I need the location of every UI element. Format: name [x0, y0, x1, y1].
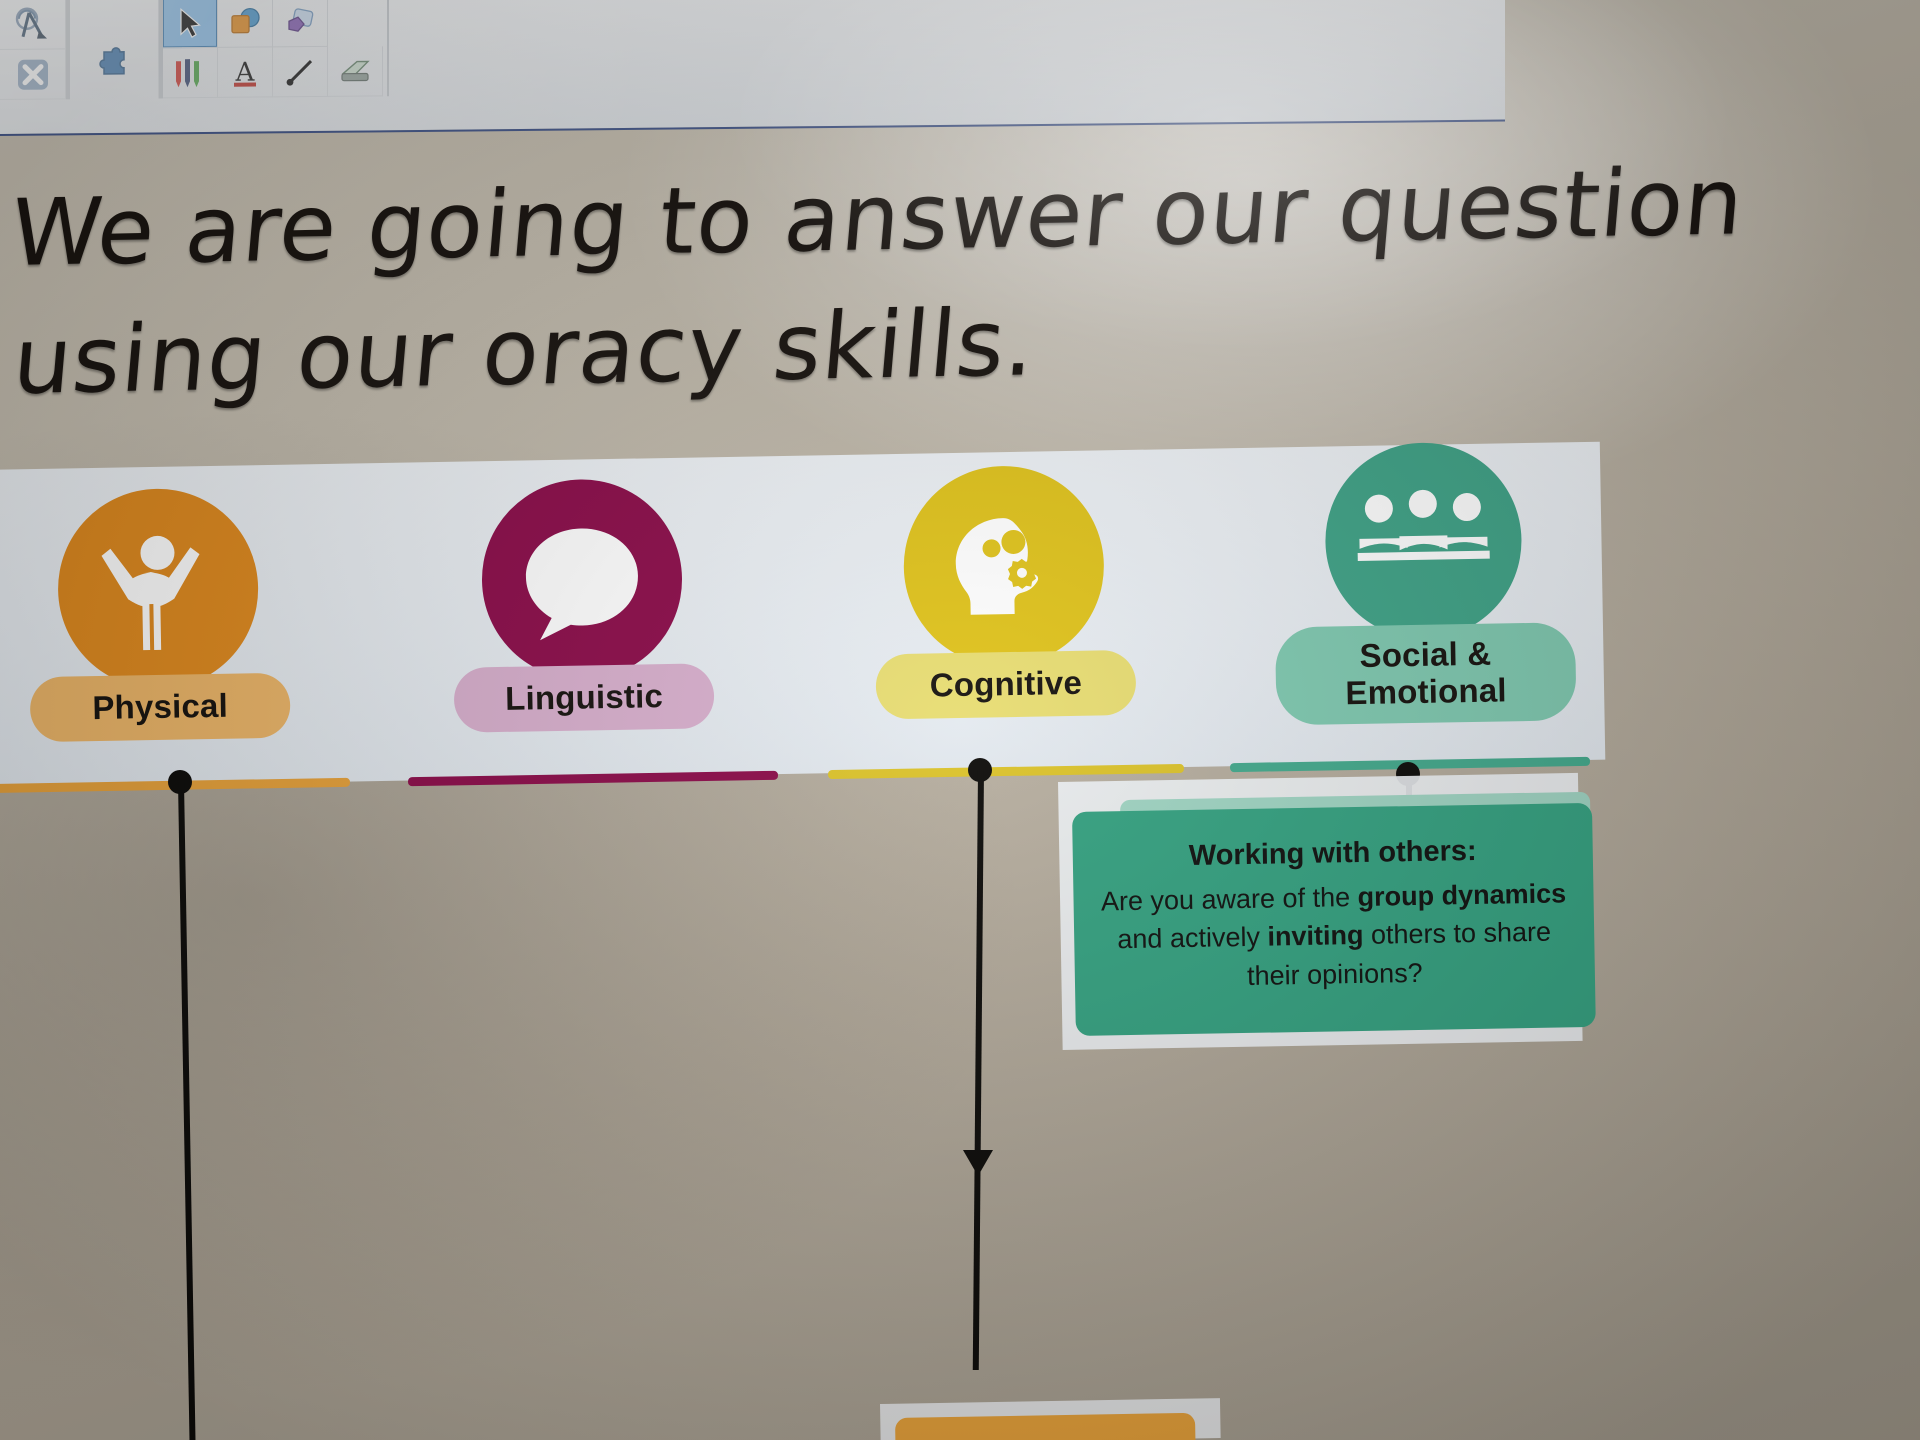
- toolbar-group-plugin: [68, 0, 161, 99]
- line-tool-icon[interactable]: [273, 47, 328, 98]
- strand-label-social-emotional: Social & Emotional: [1275, 622, 1577, 725]
- strand-social-emotional[interactable]: Social & Emotional: [1272, 440, 1577, 725]
- pointer-arrow-cognitive: [963, 1150, 993, 1176]
- toolbar-row: A: [0, 0, 389, 100]
- plugin-spacer: [70, 0, 159, 49]
- person-arms-raised-icon: [56, 487, 259, 690]
- shapes-icon[interactable]: [218, 0, 273, 48]
- toolbar-group-draw: A: [161, 0, 389, 98]
- head-with-gears-icon: [902, 464, 1105, 667]
- callout-body-part2: and actively: [1117, 922, 1268, 955]
- strand-cognitive[interactable]: Cognitive: [872, 464, 1136, 719]
- strand-label-social-line2: Emotional: [1302, 672, 1551, 713]
- eraser-icon[interactable]: [328, 46, 383, 97]
- strand-label-physical: Physical: [30, 673, 291, 742]
- compass-protractor-icon[interactable]: [0, 0, 66, 50]
- projected-whiteboard-photo: A We are: [0, 0, 1920, 1440]
- shape-fill-icon[interactable]: [273, 0, 328, 47]
- application-toolbar-strip: A: [0, 0, 1505, 136]
- strand-physical[interactable]: Physical: [26, 487, 290, 742]
- text-tool-icon[interactable]: A: [218, 47, 273, 98]
- oracy-framework-slide: Physical Linguistic: [0, 442, 1605, 788]
- strand-label-cognitive: Cognitive: [875, 650, 1136, 719]
- toolbar-group-measure: [0, 0, 68, 100]
- strand-label-linguistic: Linguistic: [454, 663, 715, 732]
- callout-title: Working with others:: [1099, 833, 1568, 874]
- pens-icon[interactable]: [163, 48, 218, 99]
- callout-body-part1: Are you aware of the: [1101, 882, 1358, 916]
- cross-tool-icon[interactable]: [0, 49, 66, 100]
- callout-body-bold2: inviting: [1267, 920, 1364, 952]
- puzzle-piece-icon[interactable]: [70, 48, 159, 99]
- speech-bubble-icon: [480, 478, 683, 681]
- bottom-callout-chip[interactable]: [895, 1413, 1196, 1440]
- callout-social-emotional[interactable]: Working with others: Are you aware of th…: [1072, 803, 1596, 1036]
- strand-row: Physical Linguistic: [0, 442, 1605, 788]
- callout-body-bold1: group dynamics: [1357, 878, 1566, 912]
- three-people-group-icon: [1324, 441, 1523, 640]
- callout-body: Are you aware of the group dynamics and …: [1099, 874, 1569, 997]
- strand-label-social-line1: Social &: [1301, 635, 1550, 676]
- lesson-objective-heading: We are going to answer our question usin…: [10, 141, 1574, 426]
- pointer-arrow-icon[interactable]: [163, 0, 218, 48]
- strand-linguistic[interactable]: Linguistic: [450, 477, 714, 732]
